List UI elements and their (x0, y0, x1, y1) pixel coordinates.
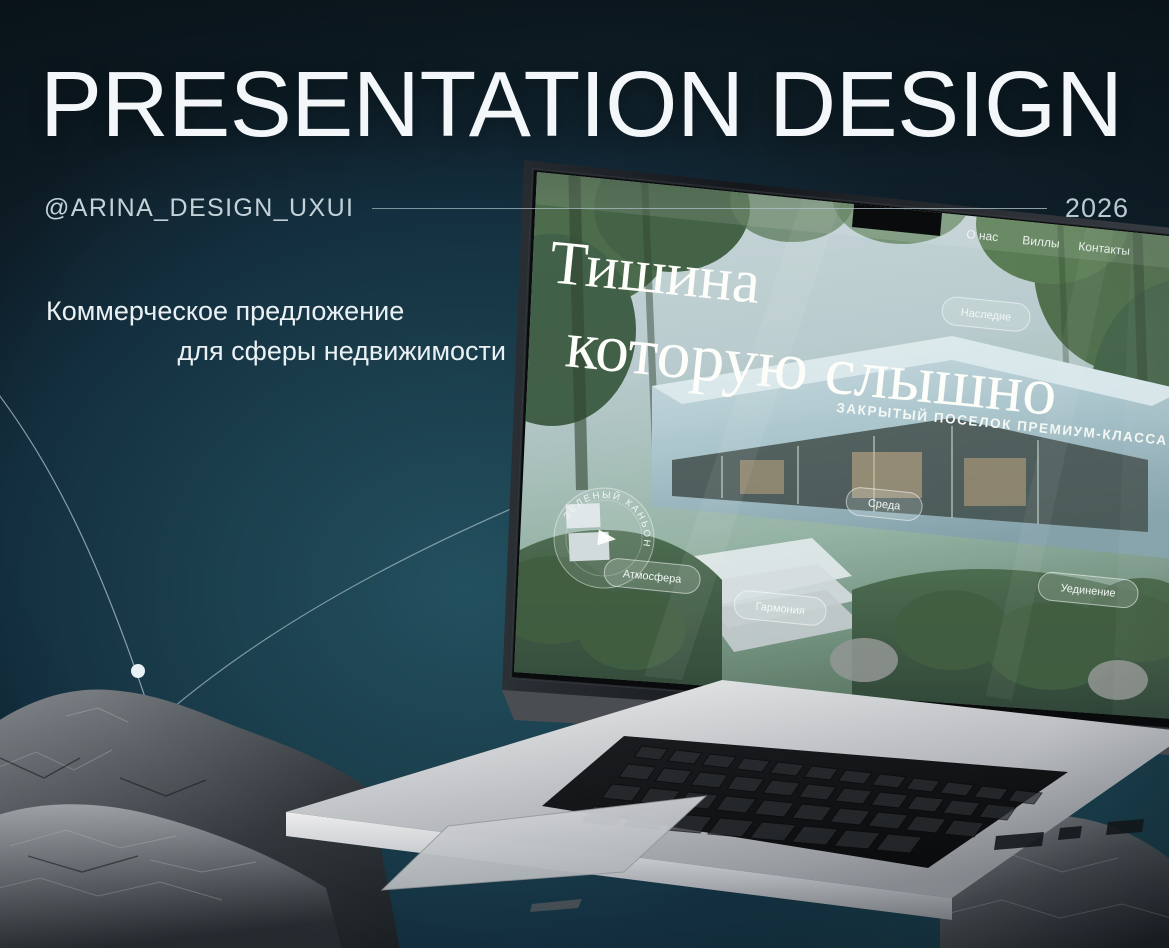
subtitle-line-1: Коммерческое предложение (46, 296, 404, 326)
year-label: 2026 (1065, 193, 1129, 224)
meta-row: @ARINA_DESIGN_UXUI 2026 (44, 191, 1129, 225)
author-handle: @ARINA_DESIGN_UXUI (44, 194, 354, 223)
subtitle: Коммерческое предложение для сферы недви… (46, 292, 506, 372)
slide-canvas: О нас Виллы Контакты Тишина которую слыш… (0, 0, 1169, 948)
subtitle-line-2: для сферы недвижимости (46, 332, 506, 372)
page-title: PRESENTATION DESIGN (40, 58, 1123, 151)
meta-divider (372, 208, 1047, 209)
